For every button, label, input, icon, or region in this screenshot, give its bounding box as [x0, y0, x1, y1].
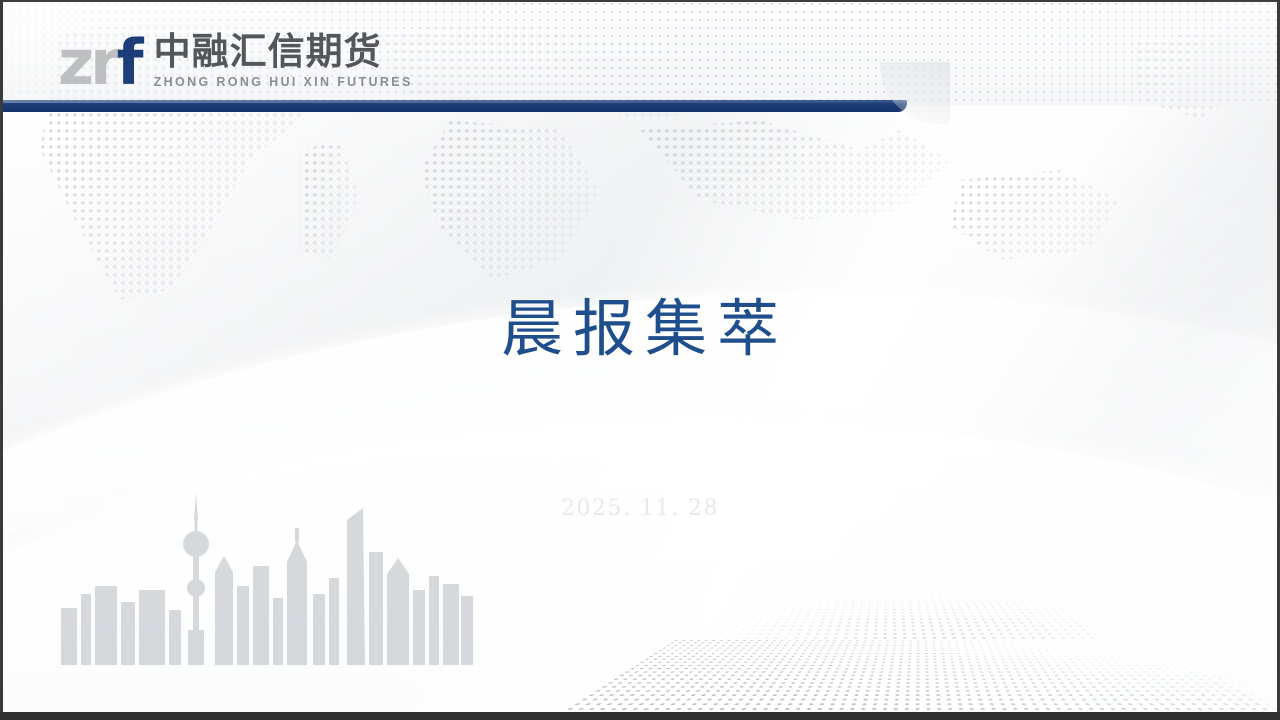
logo-monogram-icon: zrf	[58, 38, 140, 89]
logo-monogram-f: f	[117, 26, 140, 99]
page-title: 晨报集萃	[0, 278, 1280, 368]
presentation-slide: zrf 中融汇信期货 ZHONG RONG HUI XIN FUTURES 晨报…	[0, 0, 1280, 720]
company-logo: zrf 中融汇信期货 ZHONG RONG HUI XIN FUTURES	[58, 33, 413, 89]
logo-wordmark: 中融汇信期货 ZHONG RONG HUI XIN FUTURES	[154, 33, 413, 89]
logo-monogram-zr: zr	[58, 26, 117, 99]
slide-date: 2025. 11. 28	[0, 496, 1280, 521]
slide-edge-bottom	[0, 712, 1280, 720]
slide-edge-top	[0, 0, 1280, 2]
logo-name-cn: 中融汇信期货	[154, 33, 413, 72]
navy-accent-bar-gloss	[0, 100, 907, 103]
logo-name-en: ZHONG RONG HUI XIN FUTURES	[154, 75, 413, 89]
slide-edge-left	[0, 0, 3, 720]
